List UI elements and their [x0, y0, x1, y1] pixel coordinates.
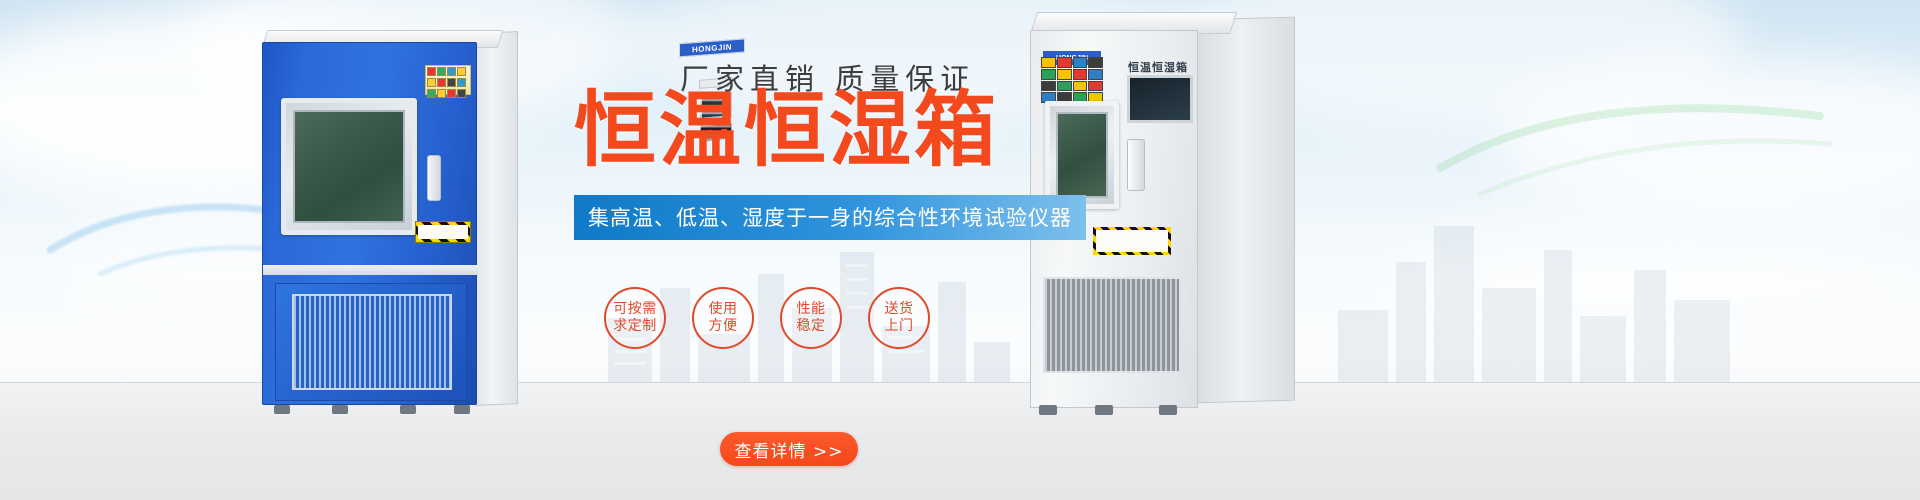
badge-line-2: 方便: [709, 318, 738, 336]
promo-banner: HONGJIN: [0, 0, 1920, 500]
left-chamber-hazard-sticker: [415, 221, 471, 243]
left-chamber-body-divider: [263, 265, 478, 275]
left-chamber-warning-labels: [425, 65, 471, 95]
right-chamber-control-screen: [1127, 75, 1193, 123]
product-image-left-chamber: HONGJIN: [262, 30, 518, 405]
banner-subtitle: 集高温、低温、湿度于一身的综合性环境试验仪器: [574, 195, 1086, 240]
badge-line-1: 可按需: [613, 301, 657, 319]
left-chamber-vent-grille: [292, 294, 452, 390]
badge-line-1: 性能: [797, 301, 826, 319]
left-chamber-door: [281, 98, 417, 235]
badge-line-2: 上门: [885, 318, 914, 336]
left-chamber-door-handle: [427, 155, 441, 201]
view-details-button[interactable]: 查看详情 >>: [720, 432, 858, 466]
cloud-shape: [1380, 210, 1920, 360]
feature-badge-list: 可按需 求定制 使用 方便 性能 稳定 送货 上门: [604, 287, 930, 349]
badge-line-1: 使用: [709, 301, 738, 319]
feature-badge-delivery: 送货 上门: [868, 287, 930, 349]
city-skyline-silhouette: [1330, 190, 1750, 400]
feature-badge-easy-use: 使用 方便: [692, 287, 754, 349]
badge-line-2: 稳定: [797, 318, 826, 336]
green-swoosh-decoration: [1420, 72, 1840, 212]
right-chamber-hazard-sticker: [1093, 227, 1171, 255]
right-chamber-panel-label: 恒温恒湿箱: [1119, 59, 1197, 74]
left-chamber-front-body: [262, 42, 477, 405]
right-chamber-door-handle: [1127, 139, 1145, 191]
left-chamber-casters: [272, 404, 472, 414]
badge-line-2: 求定制: [613, 318, 657, 336]
feature-badge-stable: 性能 稳定: [780, 287, 842, 349]
left-chamber-side-panel: HONGJIN: [475, 31, 518, 406]
banner-headline: 恒温恒湿箱: [574, 90, 999, 172]
cloud-shape: [1500, 60, 1920, 220]
left-chamber-lower-cabinet: [275, 283, 467, 401]
feature-badge-custom: 可按需 求定制: [604, 287, 666, 349]
badge-line-1: 送货: [885, 301, 914, 319]
right-chamber-side-panel: [1196, 17, 1295, 404]
left-chamber-viewing-window: [293, 110, 405, 223]
banner-copy-block: 厂家直销 质量保证 恒温恒湿箱 集高温、低温、湿度于一身的综合性环境试验仪器 可…: [560, 0, 1080, 500]
